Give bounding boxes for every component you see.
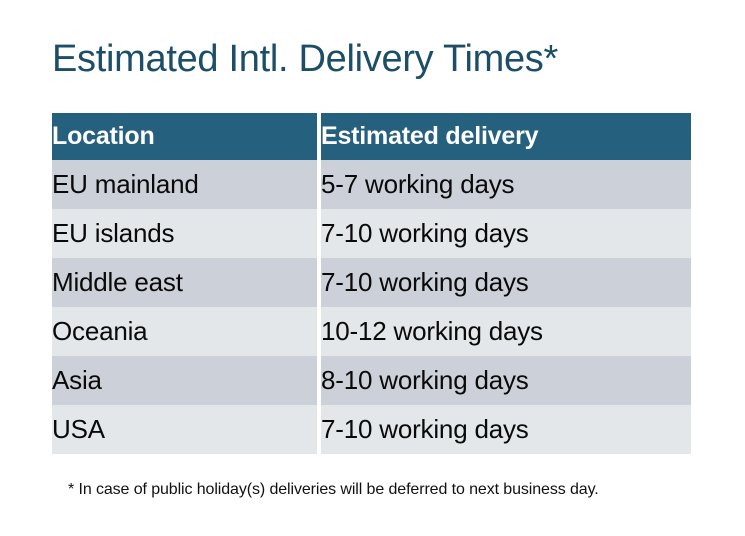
table-row: EU mainland 5-7 working days	[52, 160, 691, 209]
table-body: EU mainland 5-7 working days EU islands …	[52, 160, 691, 454]
column-header-estimated-delivery: Estimated delivery	[321, 113, 691, 160]
cell-delivery: 8-10 working days	[321, 356, 691, 405]
table-row: USA 7-10 working days	[52, 405, 691, 454]
cell-delivery: 7-10 working days	[321, 405, 691, 454]
cell-delivery: 7-10 working days	[321, 209, 691, 258]
cell-delivery: 5-7 working days	[321, 160, 691, 209]
footnote-text: * In case of public holiday(s) deliverie…	[68, 481, 599, 499]
cell-location: USA	[52, 405, 317, 454]
cell-location: Asia	[52, 356, 317, 405]
table-row: Middle east 7-10 working days	[52, 258, 691, 307]
estimated-delivery-times-table: Location Estimated delivery EU mainland …	[52, 113, 691, 454]
table-header-row: Location Estimated delivery	[52, 113, 691, 160]
cell-location: EU islands	[52, 209, 317, 258]
cell-location: EU mainland	[52, 160, 317, 209]
cell-location: Middle east	[52, 258, 317, 307]
cell-delivery: 10-12 working days	[321, 307, 691, 356]
cell-location: Oceania	[52, 307, 317, 356]
cell-delivery: 7-10 working days	[321, 258, 691, 307]
table-row: Oceania 10-12 working days	[52, 307, 691, 356]
delivery-times-page: Estimated Intl. Delivery Times* Location…	[0, 0, 745, 536]
column-header-location: Location	[52, 113, 317, 160]
table-row: EU islands 7-10 working days	[52, 209, 691, 258]
table-row: Asia 8-10 working days	[52, 356, 691, 405]
page-title: Estimated Intl. Delivery Times*	[52, 36, 558, 82]
